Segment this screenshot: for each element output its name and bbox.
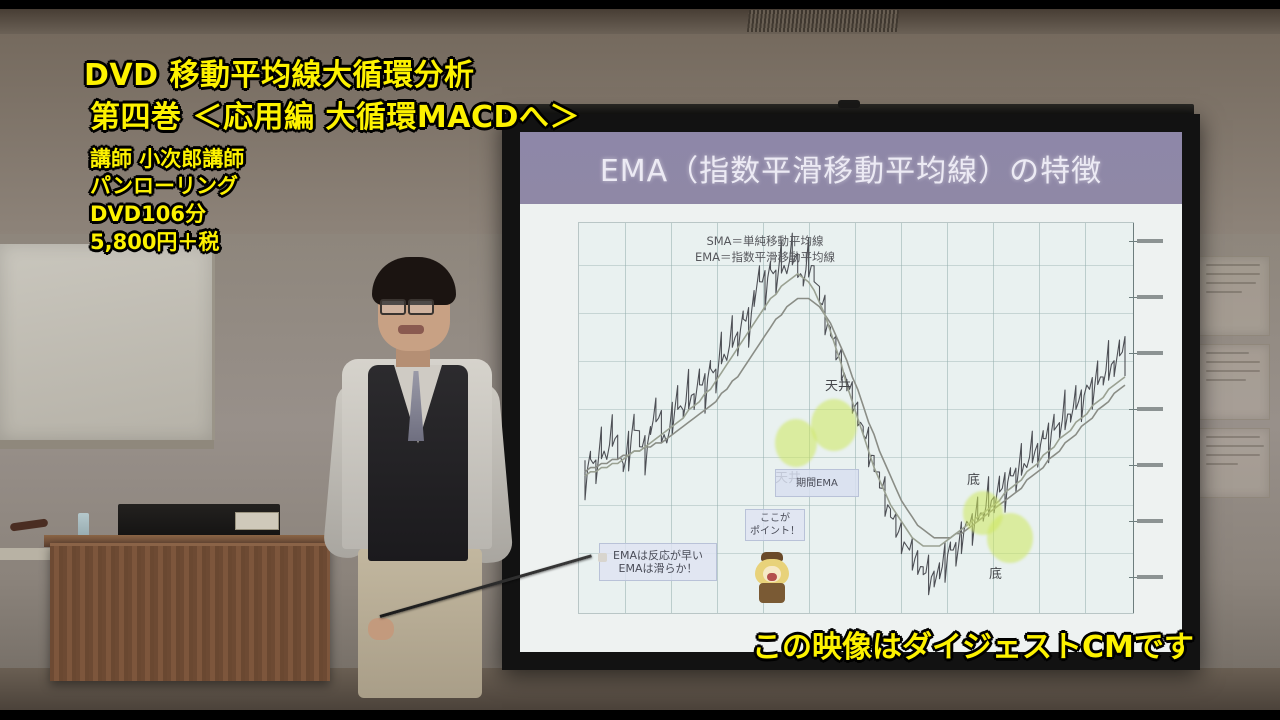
- eyeglasses-right-lens: [408, 299, 434, 315]
- point-callout-line2: ポイント！: [750, 525, 800, 538]
- highlight-bottom-sma: [987, 513, 1033, 563]
- chart-plot-area: SMA＝単純移動平均線 EMA＝指数平滑移動平均線 天井 天井 底 底: [578, 222, 1134, 614]
- eyeglasses-left-lens: [380, 299, 406, 315]
- slide-chart-area: SMA＝単純移動平均線 EMA＝指数平滑移動平均線 天井 天井 底 底: [520, 204, 1182, 652]
- wall-poster-2: [1196, 344, 1270, 420]
- projected-slide: EMA（指数平滑移動平均線）の特徴: [520, 132, 1182, 652]
- overlay-title-line2: 第四巻 ＜応用編 大循環MACDへ＞: [90, 92, 580, 136]
- ema-note-box: EMAは反応が早い EMAは滑らか！: [599, 543, 717, 581]
- annotation-bottom-lower: 底: [989, 563, 1002, 582]
- annotation-top-upper: 天井: [825, 375, 851, 394]
- video-frame-root: EMA（指数平滑移動平均線）の特徴: [0, 0, 1280, 720]
- presenter-mouth: [398, 325, 424, 334]
- ema-note-line1: EMAは反応が早い: [613, 549, 703, 562]
- ema-note-line2: EMAは滑らか！: [619, 562, 698, 575]
- presenter: [330, 263, 540, 683]
- letterbox-bottom: [0, 710, 1280, 720]
- overlay-price: 5,800円＋税: [90, 226, 219, 256]
- legend-line-sma: SMA＝単純移動平均線: [615, 233, 915, 249]
- legend-line-ema: EMA＝指数平滑移動平均線: [615, 249, 915, 265]
- whiteboard-tray: [0, 440, 214, 449]
- overlay-title-line1: DVD 移動平均線大循環分析: [84, 50, 474, 94]
- laptop-label-sticker: [235, 512, 279, 530]
- wall-poster-3: [1196, 428, 1270, 498]
- pointer-stick-tip: [598, 553, 607, 562]
- presenter-hair: [372, 257, 456, 305]
- highlight-top-sma: [811, 399, 857, 451]
- overlay-lecturer: 講師 小次郎講師: [90, 143, 244, 173]
- annotation-bottom-upper: 底: [967, 469, 980, 488]
- overlay-bottom-caption: この映像はダイジェストCMです: [752, 622, 1194, 666]
- chart-right-axis: [1133, 223, 1134, 613]
- whiteboard: [0, 244, 215, 440]
- letterbox-top: [0, 0, 1280, 9]
- mascot-character: [750, 552, 794, 606]
- podium: [50, 543, 330, 681]
- overlay-publisher: パンローリング: [90, 170, 238, 200]
- ceiling: [0, 8, 1280, 34]
- ceiling-vent: [747, 10, 899, 32]
- chart-legend: SMA＝単純移動平均線 EMA＝指数平滑移動平均線: [615, 233, 915, 265]
- ema-period-box: 期間EMA: [775, 469, 859, 497]
- ema-period-label: 期間EMA: [796, 477, 838, 490]
- overlay-duration: DVD106分: [90, 198, 206, 228]
- projector-screen-knob: [838, 100, 860, 108]
- slide-title: EMA（指数平滑移動平均線）の特徴: [520, 146, 1182, 190]
- point-callout-line1: ここが: [760, 512, 790, 525]
- point-callout-box: ここが ポイント！: [745, 509, 805, 541]
- wall-poster-1: [1196, 256, 1270, 336]
- presenter-hand: [368, 618, 394, 640]
